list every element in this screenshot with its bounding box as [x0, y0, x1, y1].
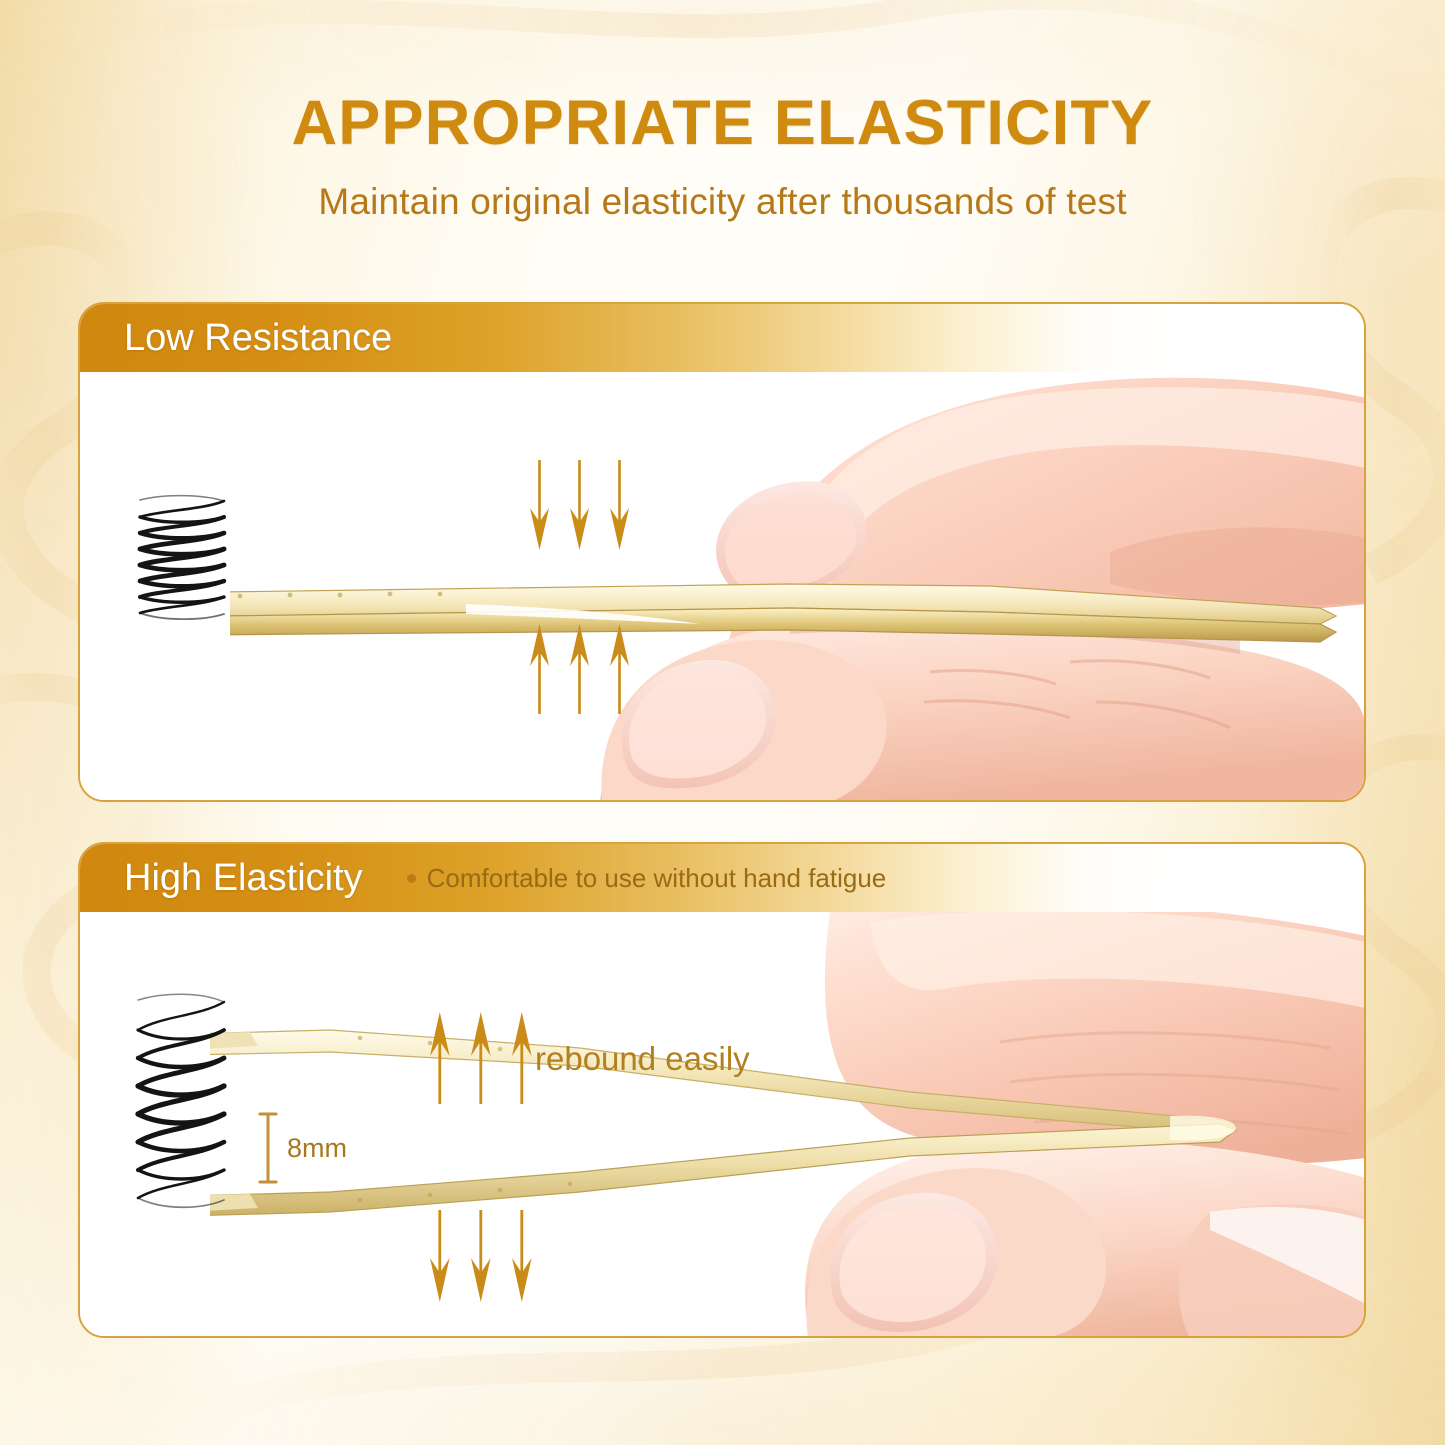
photo-hand-open-tweezers [210, 912, 1364, 1336]
card-title-low-resistance: Low Resistance [80, 319, 392, 357]
bullet-dot-icon [407, 874, 416, 883]
arrows-up-icon [525, 624, 635, 714]
arrows-down-icon [525, 460, 635, 550]
page-subtitle: Maintain original elasticity after thous… [0, 183, 1445, 220]
spring-expanded-icon [120, 990, 240, 1222]
card-body-high-elasticity: rebound easily 8mm [80, 912, 1364, 1336]
card-note-text: Comfortable to use without hand fatigue [427, 865, 887, 891]
card-high-elasticity: High Elasticity Comfortable to use witho… [78, 842, 1366, 1338]
arrows-down-icon [425, 1210, 537, 1302]
page-header: APPROPRIATE ELASTICITY Maintain original… [0, 0, 1445, 220]
card-low-resistance: Low Resistance [78, 302, 1366, 802]
rebound-caption: rebound easily [535, 1042, 750, 1075]
page-title: APPROPRIATE ELASTICITY [0, 92, 1445, 155]
gap-dimension-marker: 8mm [258, 1112, 347, 1184]
card-header-low-resistance: Low Resistance [80, 304, 1364, 372]
card-body-low-resistance [80, 372, 1364, 800]
card-title-high-elasticity: High Elasticity [80, 859, 363, 897]
photo-hand-closed-tweezers [230, 372, 1364, 800]
gap-dimension-label: 8mm [287, 1135, 347, 1162]
dimension-ibeam-icon [258, 1112, 278, 1184]
arrows-up-icon [425, 1012, 537, 1104]
card-header-high-elasticity: High Elasticity Comfortable to use witho… [80, 844, 1364, 912]
spring-compressed-icon [122, 490, 242, 640]
card-note-high-elasticity: Comfortable to use without hand fatigue [407, 865, 887, 891]
